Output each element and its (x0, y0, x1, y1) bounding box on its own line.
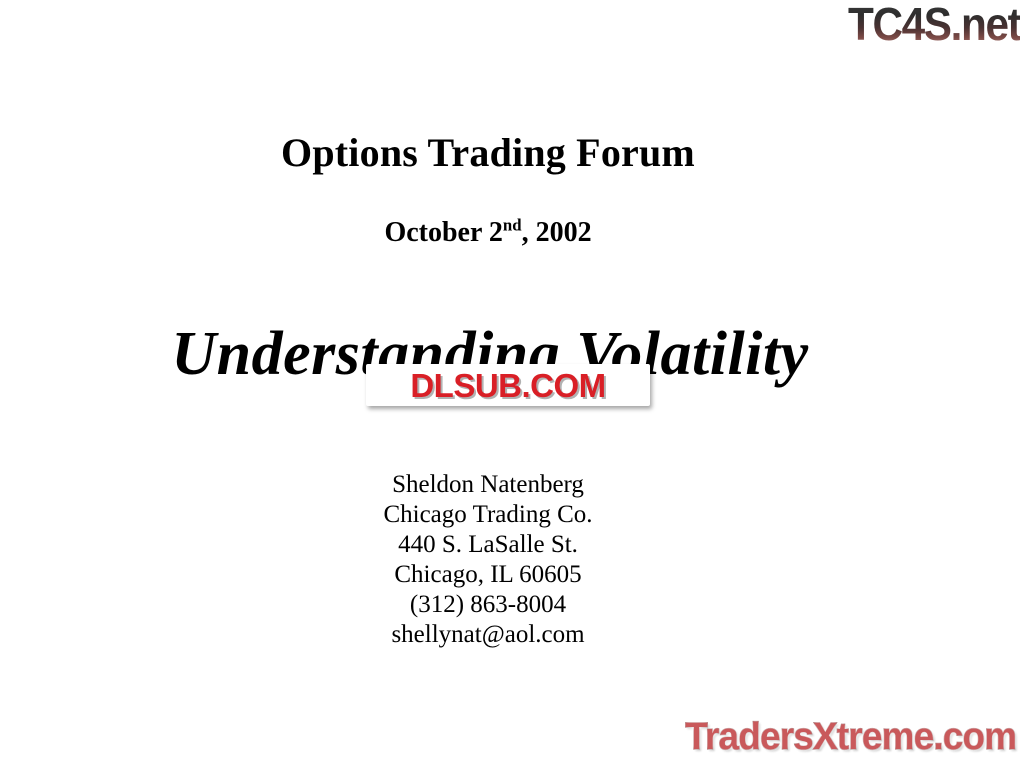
contact-block: Sheldon Natenberg Chicago Trading Co. 44… (0, 470, 976, 650)
dlsub-watermark: DLSUB.COM (366, 364, 650, 406)
event-date: October 2nd, 2002 (0, 216, 976, 250)
tradersxtreme-site-logo: TradersXtreme.com (685, 717, 1016, 757)
contact-city-state-zip: Chicago, IL 60605 (0, 560, 976, 590)
contact-email: shellynat@aol.com (0, 620, 976, 650)
contact-phone: (312) 863-8004 (0, 590, 976, 620)
event-date-ordinal: nd (503, 216, 522, 235)
event-title: Options Trading Forum (0, 130, 976, 176)
dlsub-watermark-text: DLSUB.COM (410, 369, 605, 402)
event-date-suffix: , 2002 (522, 217, 592, 248)
event-date-prefix: October 2 (384, 217, 502, 248)
contact-street: 440 S. LaSalle St. (0, 530, 976, 560)
presentation-slide: TC4S.net Options Trading Forum October 2… (0, 0, 1024, 768)
contact-presenter-name: Sheldon Natenberg (0, 470, 976, 500)
contact-company: Chicago Trading Co. (0, 500, 976, 530)
tc4s-site-logo: TC4S.net (848, 1, 1020, 47)
